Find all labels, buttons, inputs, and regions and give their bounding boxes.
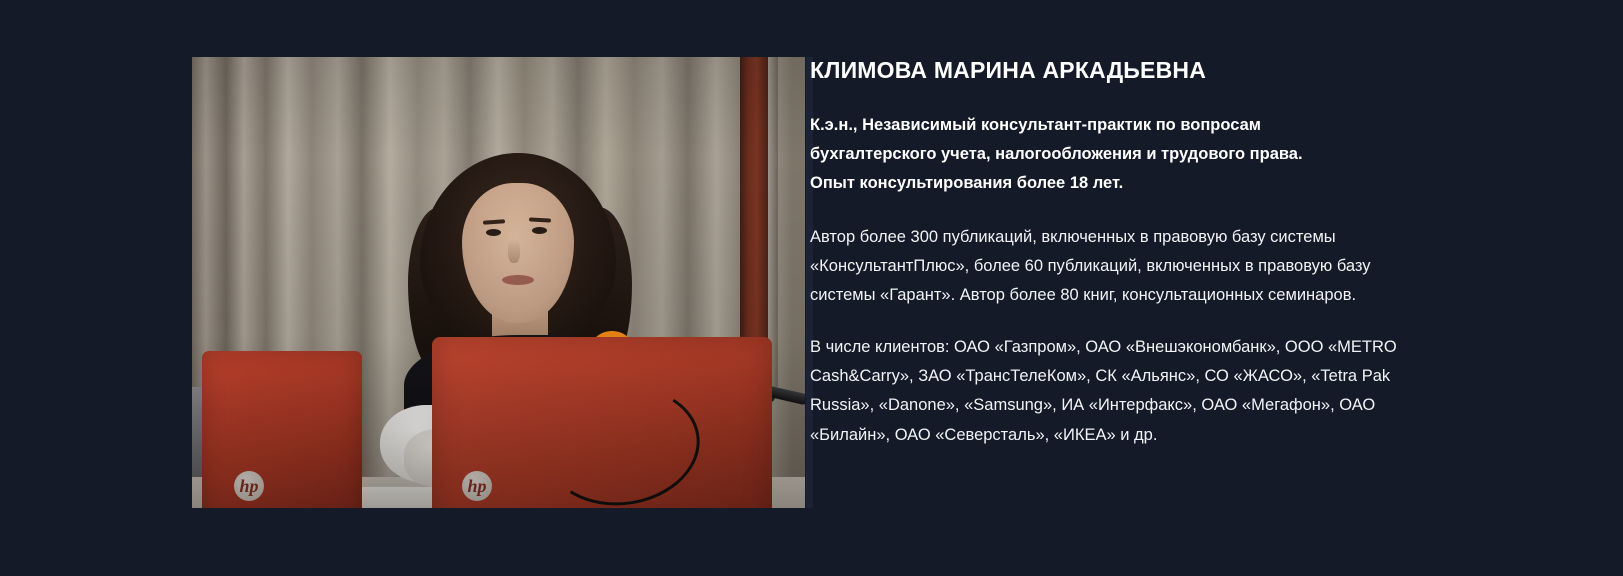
credentials-line-3: Опыт консультирования более 18 лет. (810, 174, 1123, 192)
speaker-clients-paragraph: В числе клиентов: ОАО «Газпром», ОАО «Вн… (810, 333, 1430, 450)
speaker-name-heading: КЛИМОВА МАРИНА АРКАДЬЕВНА (810, 57, 1430, 85)
speaker-credentials: К.э.н., Независимый консультант-практик … (810, 111, 1430, 199)
credentials-line-2: бухгалтерского учета, налогообложения и … (810, 145, 1303, 163)
speaker-photo: hp hp (192, 57, 805, 508)
speaker-publications-paragraph: Автор более 300 публикаций, включенных в… (810, 223, 1430, 311)
speaker-bio-column: КЛИМОВА МАРИНА АРКАДЬЕВНА К.э.н., Незави… (810, 57, 1430, 450)
speaker-profile-page: hp hp КЛИМОВА МАРИНА АРКАДЬЕВНА К.э.н., … (0, 0, 1623, 576)
credentials-line-1: К.э.н., Независимый консультант-практик … (810, 116, 1261, 134)
photo-vignette (192, 57, 805, 508)
